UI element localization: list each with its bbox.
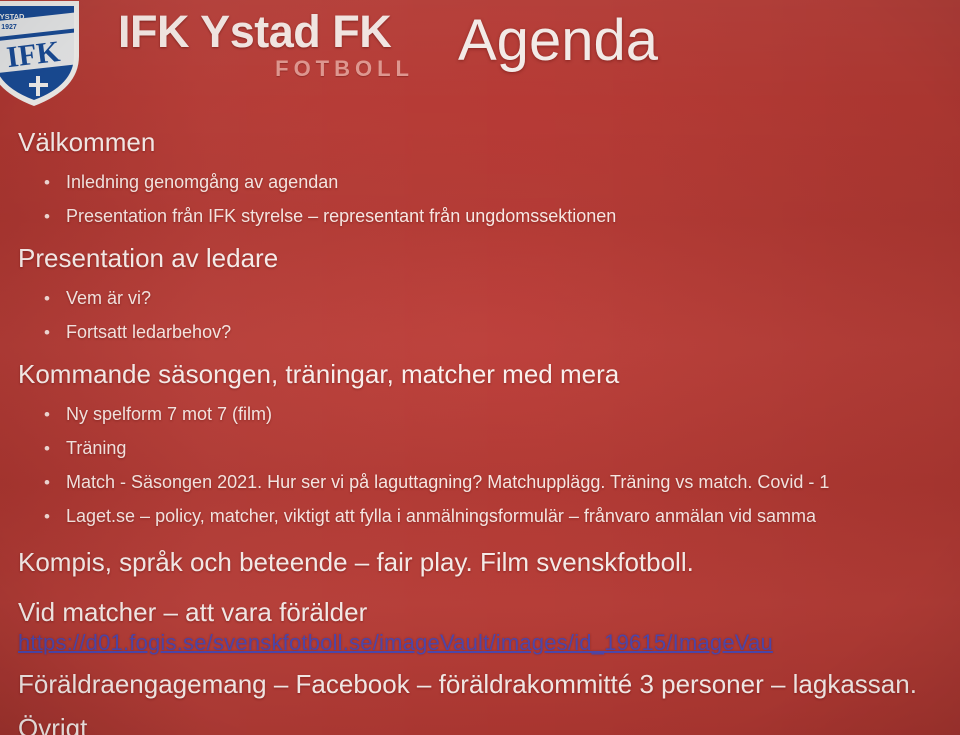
list-item-label: Inledning genomgång av agendan: [66, 172, 338, 194]
agenda-body: Välkommen • Inledning genomgång av agend…: [0, 108, 960, 735]
list-item: • Vem är vi?: [44, 288, 151, 310]
agenda-heading-kommande-sasongen: Kommande säsongen, träningar, matcher me…: [18, 360, 619, 390]
list-item: • Ny spelform 7 mot 7 (film): [44, 404, 272, 426]
slide-header: IFK YSTAD 1927 IFK Ystad FK FOTBOLL Agen…: [0, 0, 960, 108]
list-item: • Inledning genomgång av agendan: [44, 172, 338, 194]
svg-text:1927: 1927: [1, 24, 17, 31]
agenda-heading-valkommen: Välkommen: [18, 128, 155, 158]
list-item-label: Presentation från IFK styrelse – represe…: [66, 206, 616, 228]
list-item: • Fortsatt ledarbehov?: [44, 322, 231, 344]
bullet-dot-icon: •: [44, 508, 66, 525]
bullet-dot-icon: •: [44, 290, 66, 307]
svg-text:YSTAD: YSTAD: [0, 12, 25, 21]
list-item: • Träning: [44, 438, 126, 460]
ifk-ystad-shield-logo: IFK YSTAD 1927: [0, 0, 86, 108]
page-title: Agenda: [458, 6, 658, 76]
list-item-label: Match - Säsongen 2021. Hur ser vi på lag…: [66, 472, 829, 494]
agenda-heading-kompis-sprak-beteende: Kompis, språk och beteende – fair play. …: [18, 548, 694, 578]
list-item-label: Ny spelform 7 mot 7 (film): [66, 404, 272, 426]
bullet-dot-icon: •: [44, 324, 66, 341]
list-item: • Presentation från IFK styrelse – repre…: [44, 206, 616, 228]
svenskfotboll-image-link[interactable]: https://d01.fogis.se/svenskfotboll.se/im…: [18, 631, 773, 655]
brand-subtitle: FOTBOLL: [118, 56, 418, 82]
bullet-dot-icon: •: [44, 406, 66, 423]
agenda-heading-foraldraengagemang: Föräldraengagemang – Facebook – föräldra…: [18, 670, 917, 700]
list-item-label: Laget.se – policy, matcher, viktigt att …: [66, 506, 816, 528]
list-item-label: Vem är vi?: [66, 288, 151, 310]
bullet-dot-icon: •: [44, 440, 66, 457]
list-item: • Laget.se – policy, matcher, viktigt at…: [44, 506, 816, 528]
agenda-heading-ovrigt: Övrigt: [18, 714, 87, 735]
list-item-label: Fortsatt ledarbehov?: [66, 322, 231, 344]
agenda-heading-vid-matcher: Vid matcher – att vara förälder: [18, 598, 367, 628]
bullet-dot-icon: •: [44, 474, 66, 491]
brand-lockup: IFK Ystad FK FOTBOLL: [118, 9, 418, 82]
presentation-slide: IFK YSTAD 1927 IFK Ystad FK FOTBOLL Agen…: [0, 0, 960, 735]
svg-text:IFK: IFK: [5, 35, 63, 74]
list-item-label: Träning: [66, 438, 126, 460]
bullet-dot-icon: •: [44, 208, 66, 225]
brand-name: IFK Ystad FK: [118, 9, 418, 54]
list-item: • Match - Säsongen 2021. Hur ser vi på l…: [44, 472, 829, 494]
bullet-dot-icon: •: [44, 174, 66, 191]
agenda-heading-presentation-av-ledare: Presentation av ledare: [18, 244, 278, 274]
